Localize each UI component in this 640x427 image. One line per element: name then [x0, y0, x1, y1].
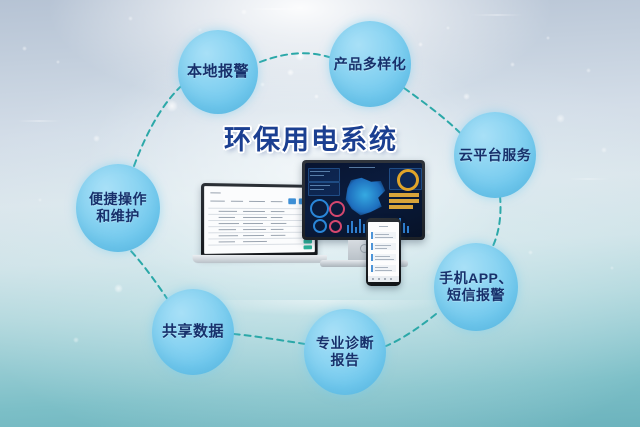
feature-node-local-alarm[interactable]: 本地报警 [178, 30, 258, 114]
feature-node-label-line1: 云平台服务 [459, 147, 532, 164]
feature-node-label: 云平台服务 [459, 147, 532, 164]
connector-local-alarm-to-product-diversity [260, 53, 332, 62]
feature-node-label-line1: 本地报警 [187, 63, 249, 81]
feature-node-label: 专业诊断报告 [316, 335, 374, 368]
feature-node-mobile-app-sms[interactable]: 手机APP、短信报警 [434, 243, 518, 331]
poster-canvas: 环保用电系统 [0, 0, 640, 427]
connector-easy-ops-to-local-alarm [134, 82, 186, 166]
feature-node-label: 产品多样化 [334, 56, 407, 73]
feature-node-label-line1: 共享数据 [162, 323, 224, 341]
feature-node-label-line1: 产品多样化 [334, 56, 407, 73]
feature-node-cloud-platform[interactable]: 云平台服务 [454, 112, 536, 198]
feature-node-easy-ops[interactable]: 便捷操作和维护 [76, 164, 160, 252]
page-title: 环保用电系统 [224, 118, 440, 157]
laptop-screen [204, 186, 315, 254]
feature-node-label-line2: 短信报警 [439, 287, 513, 304]
laptop-base [193, 255, 327, 263]
feature-node-diagnosis-report[interactable]: 专业诊断报告 [304, 309, 386, 395]
smartphone [366, 218, 401, 286]
china-map-visual [343, 177, 387, 217]
monitor-screen [305, 163, 422, 237]
feature-node-shared-data[interactable]: 共享数据 [152, 289, 234, 375]
feature-node-label: 本地报警 [187, 63, 249, 81]
feature-node-label-line2: 报告 [316, 352, 374, 369]
device-cluster [192, 160, 442, 305]
feature-node-label: 便捷操作和维护 [89, 191, 147, 224]
desktop-monitor [302, 160, 425, 240]
connector-cloud-platform-to-mobile-app-sms [492, 196, 501, 248]
feature-node-label: 手机APP、短信报警 [439, 270, 513, 303]
feature-node-label: 共享数据 [162, 323, 224, 341]
feature-node-label-line1: 专业诊断 [316, 335, 374, 352]
connector-mobile-app-sms-to-diagnosis-report [386, 314, 436, 346]
desk-reflection [196, 300, 446, 316]
laptop [201, 183, 318, 257]
feature-node-label-line1: 便捷操作 [89, 191, 147, 208]
connector-shared-data-to-easy-ops [128, 248, 168, 300]
feature-node-label-line2: 和维护 [89, 208, 147, 225]
phone-screen [368, 222, 399, 282]
connector-diagnosis-report-to-shared-data [234, 334, 305, 344]
feature-node-product-diversity[interactable]: 产品多样化 [329, 21, 411, 107]
feature-node-label-line1: 手机APP、 [439, 270, 513, 287]
